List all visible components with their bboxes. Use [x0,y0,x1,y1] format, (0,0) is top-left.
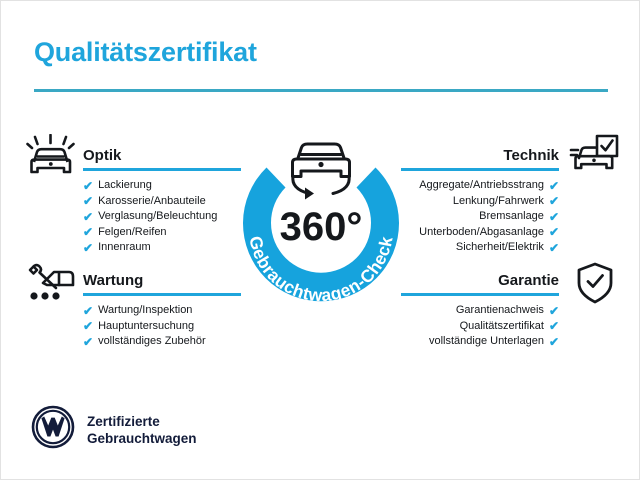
section-header: Garantie [401,266,559,296]
item-label: Innenraum [98,240,151,256]
list-item: ✔Hauptuntersuchung [83,319,241,335]
check-icon: ✔ [83,211,93,223]
section-title: Garantie [498,272,559,289]
footer-line-2: Gebrauchtwagen [87,430,197,447]
check-icon: ✔ [83,180,93,192]
list-item: vollständige Unterlagen✔ [401,334,559,350]
check-icon: ✔ [83,336,93,348]
badge-center-label: 360° [280,205,363,249]
item-label: Garantienachweis [456,303,544,319]
car-checkbox-icon [569,134,619,185]
item-label: Wartung/Inspektion [98,303,192,319]
check-icon: ✔ [83,320,93,332]
list-item: ✔Felgen/Reifen [83,225,241,241]
item-label: Unterboden/Abgasanlage [419,225,544,241]
item-label: Sicherheit/Elektrik [456,240,544,256]
check-icon: ✔ [549,195,559,207]
certificate-page: Qualitätszertifikat [0,0,640,480]
item-label: vollständige Unterlagen [429,334,544,350]
check-icon: ✔ [549,180,559,192]
checklist-optik: ✔Lackierung ✔Karosserie/Anbauteile ✔Verg… [83,178,241,256]
section-garantie: Garantie Garantienachweis✔ Qualitätszert… [401,266,559,366]
list-item: ✔Lackierung [83,178,241,194]
check-icon: ✔ [549,226,559,238]
checklist-technik: Aggregate/Antriebsstrang✔ Lenkung/Fahrwe… [401,178,559,256]
list-item: Qualitätszertifikat✔ [401,319,559,335]
item-label: Lenkung/Fahrwerk [453,194,544,210]
list-item: ✔Verglasung/Beleuchtung [83,209,241,225]
list-item: Unterboden/Abgasanlage✔ [401,225,559,241]
list-item: Lenkung/Fahrwerk✔ [401,194,559,210]
check-icon: ✔ [83,226,93,238]
section-title: Wartung [83,272,143,289]
list-item: ✔vollständiges Zubehör [83,334,241,350]
shield-check-icon [575,261,615,312]
section-divider [83,168,241,171]
check-icon: ✔ [549,336,559,348]
check-icon: ✔ [83,242,93,254]
page-title: Qualitätszertifikat [34,37,257,68]
item-label: Bremsanlage [479,209,544,225]
item-label: Verglasung/Beleuchtung [98,209,217,225]
title-divider [34,89,608,92]
section-title: Technik [503,147,559,164]
item-label: Lackierung [98,178,152,194]
section-header: Technik [401,141,559,171]
car-shine-icon [25,134,77,185]
section-title: Optik [83,147,121,164]
checklist-wartung: ✔Wartung/Inspektion ✔Hauptuntersuchung ✔… [83,303,241,350]
wrench-car-icon [23,260,79,311]
list-item: Aggregate/Antriebsstrang✔ [401,178,559,194]
check-icon: ✔ [549,242,559,254]
section-optik: Optik ✔Lackierung ✔Karosserie/Anbauteile… [83,141,241,272]
item-label: Aggregate/Antriebsstrang [419,178,544,194]
item-label: Felgen/Reifen [98,225,167,241]
list-item: ✔Innenraum [83,240,241,256]
item-label: Hauptuntersuchung [98,319,194,335]
section-header: Wartung [83,266,241,296]
360-check-badge: Gebrauchtwagen-Check 360° [219,121,423,325]
section-wartung: Wartung ✔Wartung/Inspektion ✔Hauptunters… [83,266,241,366]
section-divider [401,168,559,171]
checklist-garantie: Garantienachweis✔ Qualitätszertifikat✔ v… [401,303,559,350]
car-rotate-icon [293,144,350,200]
list-item: Garantienachweis✔ [401,303,559,319]
list-item: ✔Wartung/Inspektion [83,303,241,319]
footer-text: Zertifizierte Gebrauchtwagen [87,413,197,447]
section-divider [83,293,241,296]
item-label: vollständiges Zubehör [98,334,206,350]
list-item: ✔Karosserie/Anbauteile [83,194,241,210]
item-label: Karosserie/Anbauteile [98,194,206,210]
check-icon: ✔ [549,211,559,223]
section-technik: Technik Aggregate/Antriebsstrang✔ Lenkun… [401,141,559,272]
section-divider [401,293,559,296]
check-icon: ✔ [83,305,93,317]
footer-line-1: Zertifizierte [87,413,197,430]
item-label: Qualitätszertifikat [460,319,544,335]
check-icon: ✔ [549,305,559,317]
list-item: Bremsanlage✔ [401,209,559,225]
section-header: Optik [83,141,241,171]
list-item: Sicherheit/Elektrik✔ [401,240,559,256]
check-icon: ✔ [83,195,93,207]
footer-brand: Zertifizierte Gebrauchtwagen [31,405,197,454]
check-icon: ✔ [549,320,559,332]
vw-logo [31,405,75,454]
